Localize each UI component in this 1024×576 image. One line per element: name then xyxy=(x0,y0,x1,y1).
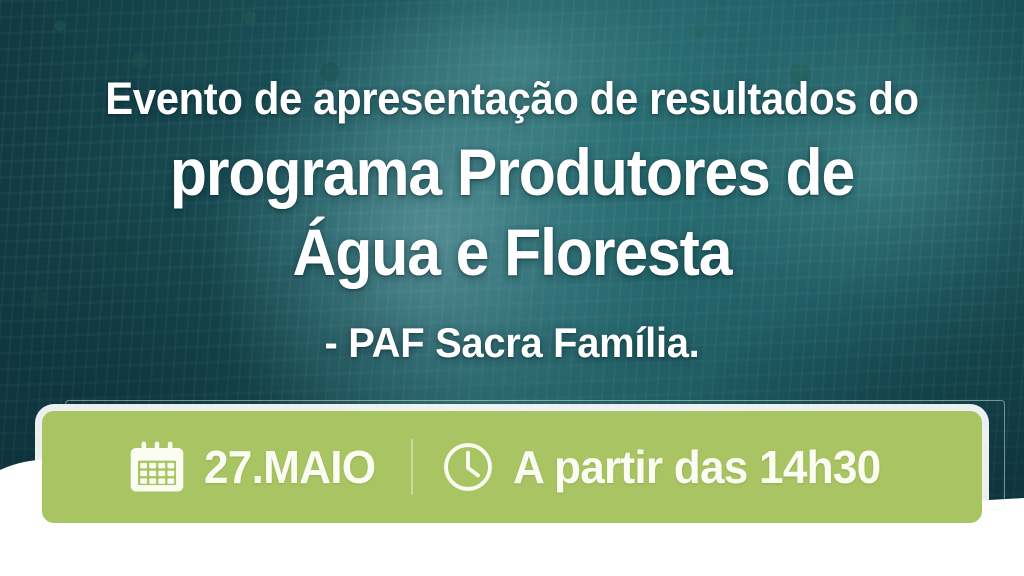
headline-line-1: Evento de apresentação de resultados do xyxy=(36,76,988,121)
event-details-row: 27.MAIO A partir das 14h30 xyxy=(42,438,982,496)
headline-line-3: Água e Floresta xyxy=(41,219,983,285)
event-date-group: 27.MAIO xyxy=(128,438,410,496)
clock-icon xyxy=(441,440,495,494)
event-time-label: A partir das 14h30 xyxy=(513,444,880,490)
event-details-banner: 27.MAIO A partir das 14h30 xyxy=(42,411,982,523)
event-poster: Evento de apresentação de resultados do … xyxy=(0,0,1024,576)
headline-line-4: - PAF Sacra Família. xyxy=(26,322,999,364)
event-time-group: A partir das 14h30 xyxy=(413,440,896,494)
headline-line-2: programa Produtores de xyxy=(41,139,983,205)
calendar-icon xyxy=(128,438,186,496)
event-date-label: 27.MAIO xyxy=(204,444,375,490)
